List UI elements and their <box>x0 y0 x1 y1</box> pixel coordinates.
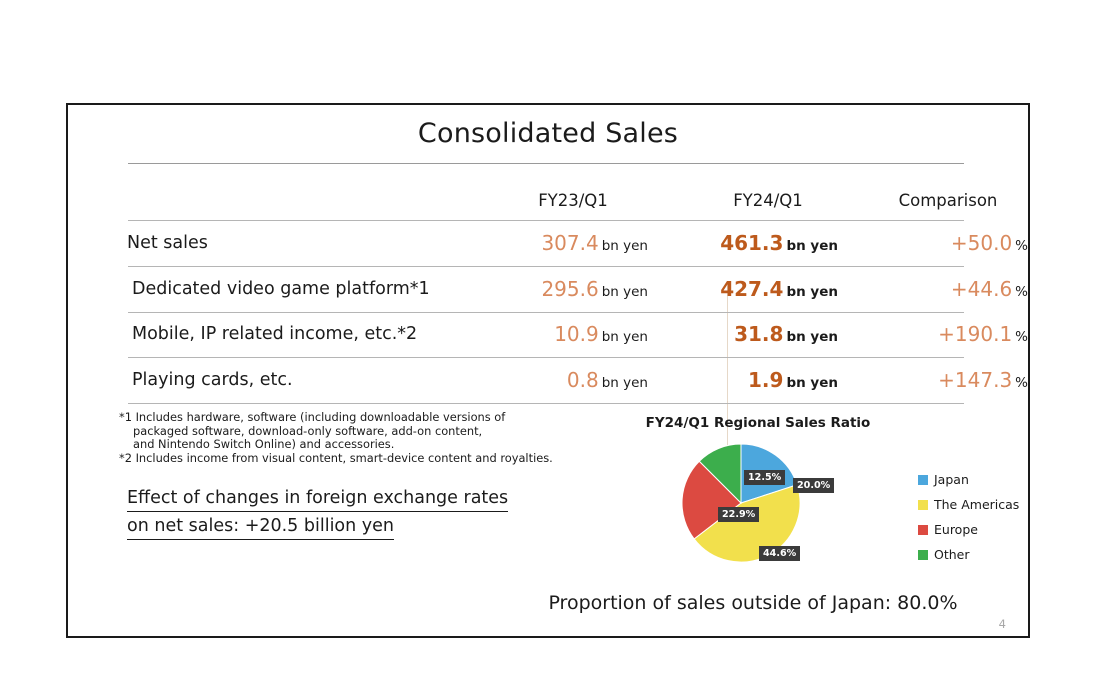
pie-svg <box>681 443 801 563</box>
row-value-comparison: +147.3% <box>813 368 1028 392</box>
footnote-line: packaged software, download-only softwar… <box>119 425 599 439</box>
row-value-fy24: 461.3bn yen <box>638 231 838 255</box>
legend-item-europe: Europe <box>918 517 1019 542</box>
column-header-fy24: FY24/Q1 <box>693 191 843 210</box>
legend-item-japan: Japan <box>918 467 1019 492</box>
legend-swatch-icon <box>918 475 928 485</box>
slide-frame: Consolidated Sales FY23/Q1 FY24/Q1 Compa… <box>66 103 1030 638</box>
row-label: Mobile, IP related income, etc.*2 <box>132 324 417 344</box>
legend-swatch-icon <box>918 500 928 510</box>
table-row: Net sales 307.4bn yen 461.3bn yen +50.0% <box>68 223 1028 269</box>
sales-table: FY23/Q1 FY24/Q1 Comparison Net sales 307… <box>68 187 1028 405</box>
value-unit: % <box>1015 284 1028 300</box>
legend-label: Europe <box>934 522 978 537</box>
pie-label-other: 12.5% <box>744 470 785 485</box>
chart-legend: Japan The Americas Europe Other <box>918 467 1019 567</box>
value-unit: % <box>1015 329 1028 345</box>
legend-label: The Americas <box>934 497 1019 512</box>
legend-label: Japan <box>934 472 969 487</box>
pie-label-the-americas: 44.6% <box>759 546 800 561</box>
regional-sales-pie-chart: FY24/Q1 Regional Sales Ratio 20.0% 44.6%… <box>588 415 1028 595</box>
legend-item-other: Other <box>918 542 1019 567</box>
value-number: 427.4 <box>720 277 783 301</box>
row-value-fy23: 307.4bn yen <box>448 231 648 255</box>
row-label: Playing cards, etc. <box>132 370 293 390</box>
row-value-fy23: 295.6bn yen <box>448 277 648 301</box>
footnote-line: *1 Includes hardware, software (includin… <box>119 411 599 425</box>
row-rule <box>128 403 964 404</box>
column-header-fy23: FY23/Q1 <box>498 191 648 210</box>
table-row: Playing cards, etc. 0.8bn yen 1.9bn yen … <box>68 360 1028 406</box>
row-value-comparison: +190.1% <box>813 322 1028 346</box>
value-number: +44.6 <box>951 277 1012 301</box>
row-rule <box>128 312 964 313</box>
header-rule <box>128 220 964 221</box>
pie-label-japan: 20.0% <box>793 478 834 493</box>
row-value-fy24: 427.4bn yen <box>638 277 838 301</box>
row-value-comparison: +50.0% <box>813 231 1028 255</box>
row-value-comparison: +44.6% <box>813 277 1028 301</box>
value-number: +50.0 <box>951 231 1012 255</box>
value-unit: % <box>1015 238 1028 254</box>
table-row: Dedicated video game platform*1 295.6bn … <box>68 269 1028 315</box>
title-divider <box>128 163 964 164</box>
page-number: 4 <box>999 617 1006 631</box>
legend-label: Other <box>934 547 970 562</box>
footnote-line: and Nintendo Switch Online) and accessor… <box>119 438 599 452</box>
legend-swatch-icon <box>918 550 928 560</box>
value-number: +190.1 <box>938 322 1012 346</box>
row-label: Dedicated video game platform*1 <box>132 279 430 299</box>
value-number: 10.9 <box>554 322 599 346</box>
footnotes: *1 Includes hardware, software (includin… <box>119 411 599 465</box>
legend-swatch-icon <box>918 525 928 535</box>
value-number: 461.3 <box>720 231 783 255</box>
fx-effect-note: Effect of changes in foreign exchange ra… <box>127 487 508 540</box>
row-value-fy23: 0.8bn yen <box>448 368 648 392</box>
row-rule <box>128 357 964 358</box>
outside-japan-caption: Proportion of sales outside of Japan: 80… <box>498 592 1008 614</box>
table-row: Mobile, IP related income, etc.*2 10.9bn… <box>68 314 1028 360</box>
fx-note-line-1: Effect of changes in foreign exchange ra… <box>127 487 508 512</box>
row-value-fy24: 1.9bn yen <box>638 368 838 392</box>
value-number: 1.9 <box>748 368 783 392</box>
chart-title: FY24/Q1 Regional Sales Ratio <box>588 415 928 431</box>
column-header-comparison: Comparison <box>868 191 1028 210</box>
fx-note-line-2: on net sales: +20.5 billion yen <box>127 515 394 540</box>
table-header-row: FY23/Q1 FY24/Q1 Comparison <box>68 187 1028 223</box>
row-value-fy24: 31.8bn yen <box>638 322 838 346</box>
value-number: 295.6 <box>541 277 598 301</box>
value-number: 0.8 <box>567 368 599 392</box>
footnote-line: *2 Includes income from visual content, … <box>119 452 599 466</box>
value-number: +147.3 <box>938 368 1012 392</box>
value-number: 31.8 <box>734 322 783 346</box>
value-number: 307.4 <box>541 231 598 255</box>
pie-graphic: 20.0% 44.6% 22.9% 12.5% <box>681 443 801 563</box>
legend-item-the-americas: The Americas <box>918 492 1019 517</box>
page-title: Consolidated Sales <box>68 118 1028 149</box>
row-label: Net sales <box>127 233 208 253</box>
row-rule <box>128 266 964 267</box>
value-unit: % <box>1015 375 1028 391</box>
row-value-fy23: 10.9bn yen <box>448 322 648 346</box>
pie-label-europe: 22.9% <box>718 507 759 522</box>
